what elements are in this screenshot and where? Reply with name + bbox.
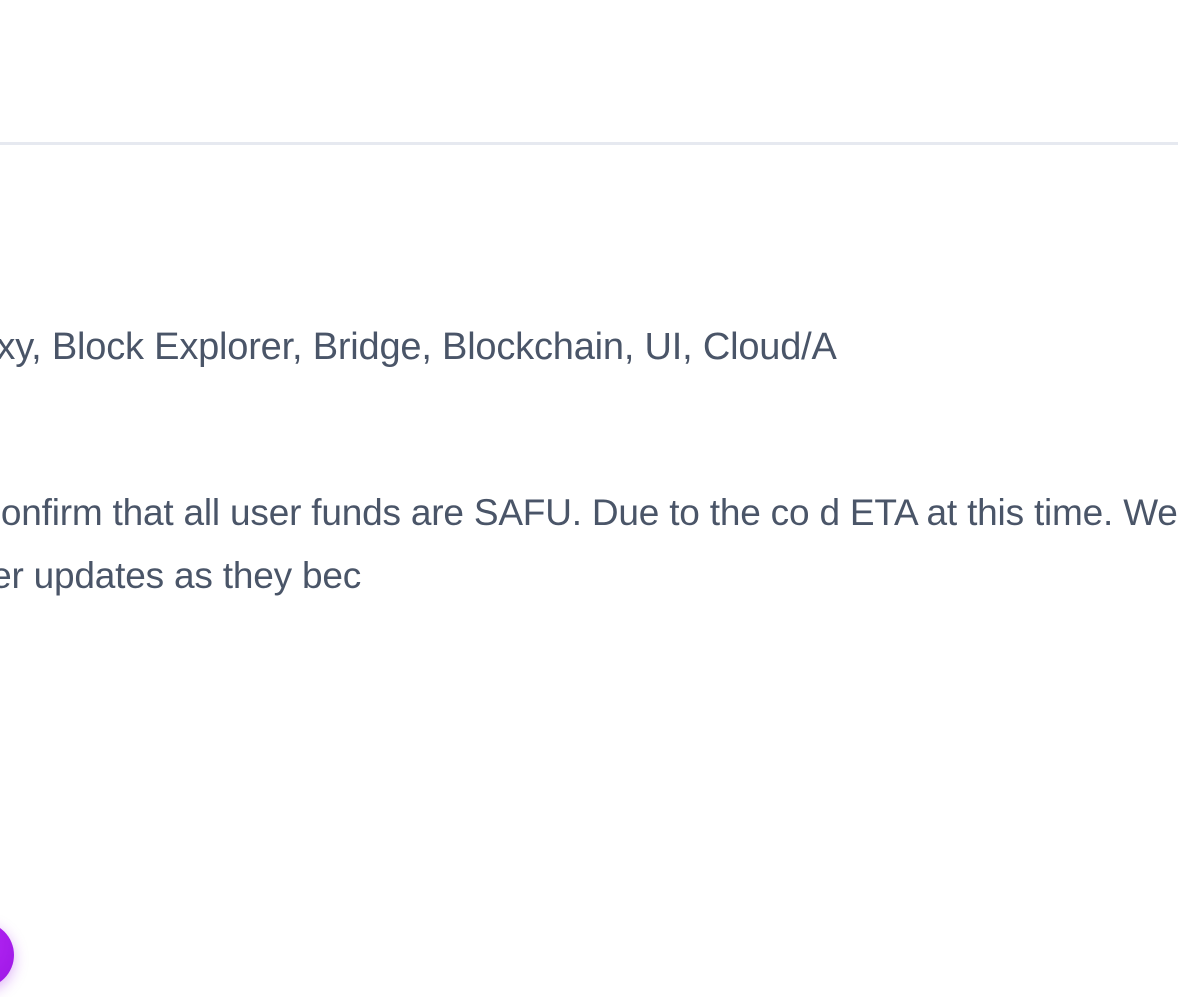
chat-launcher-icon[interactable]: [0, 922, 14, 988]
affected-services-row: esRPC Proxy, Block Explorer, Bridge, Blo…: [0, 267, 1178, 372]
incident-description: ng. We can confirm that all user funds a…: [0, 373, 1178, 608]
status-incident-page: ailable esRPC Proxy, Block Explorer, Bri…: [0, 0, 1178, 997]
incident-title: ailable: [0, 142, 1178, 267]
affected-services-list: RPC Proxy, Block Explorer, Bridge, Block…: [0, 326, 837, 368]
incident-content: ailable esRPC Proxy, Block Explorer, Bri…: [0, 142, 1178, 608]
